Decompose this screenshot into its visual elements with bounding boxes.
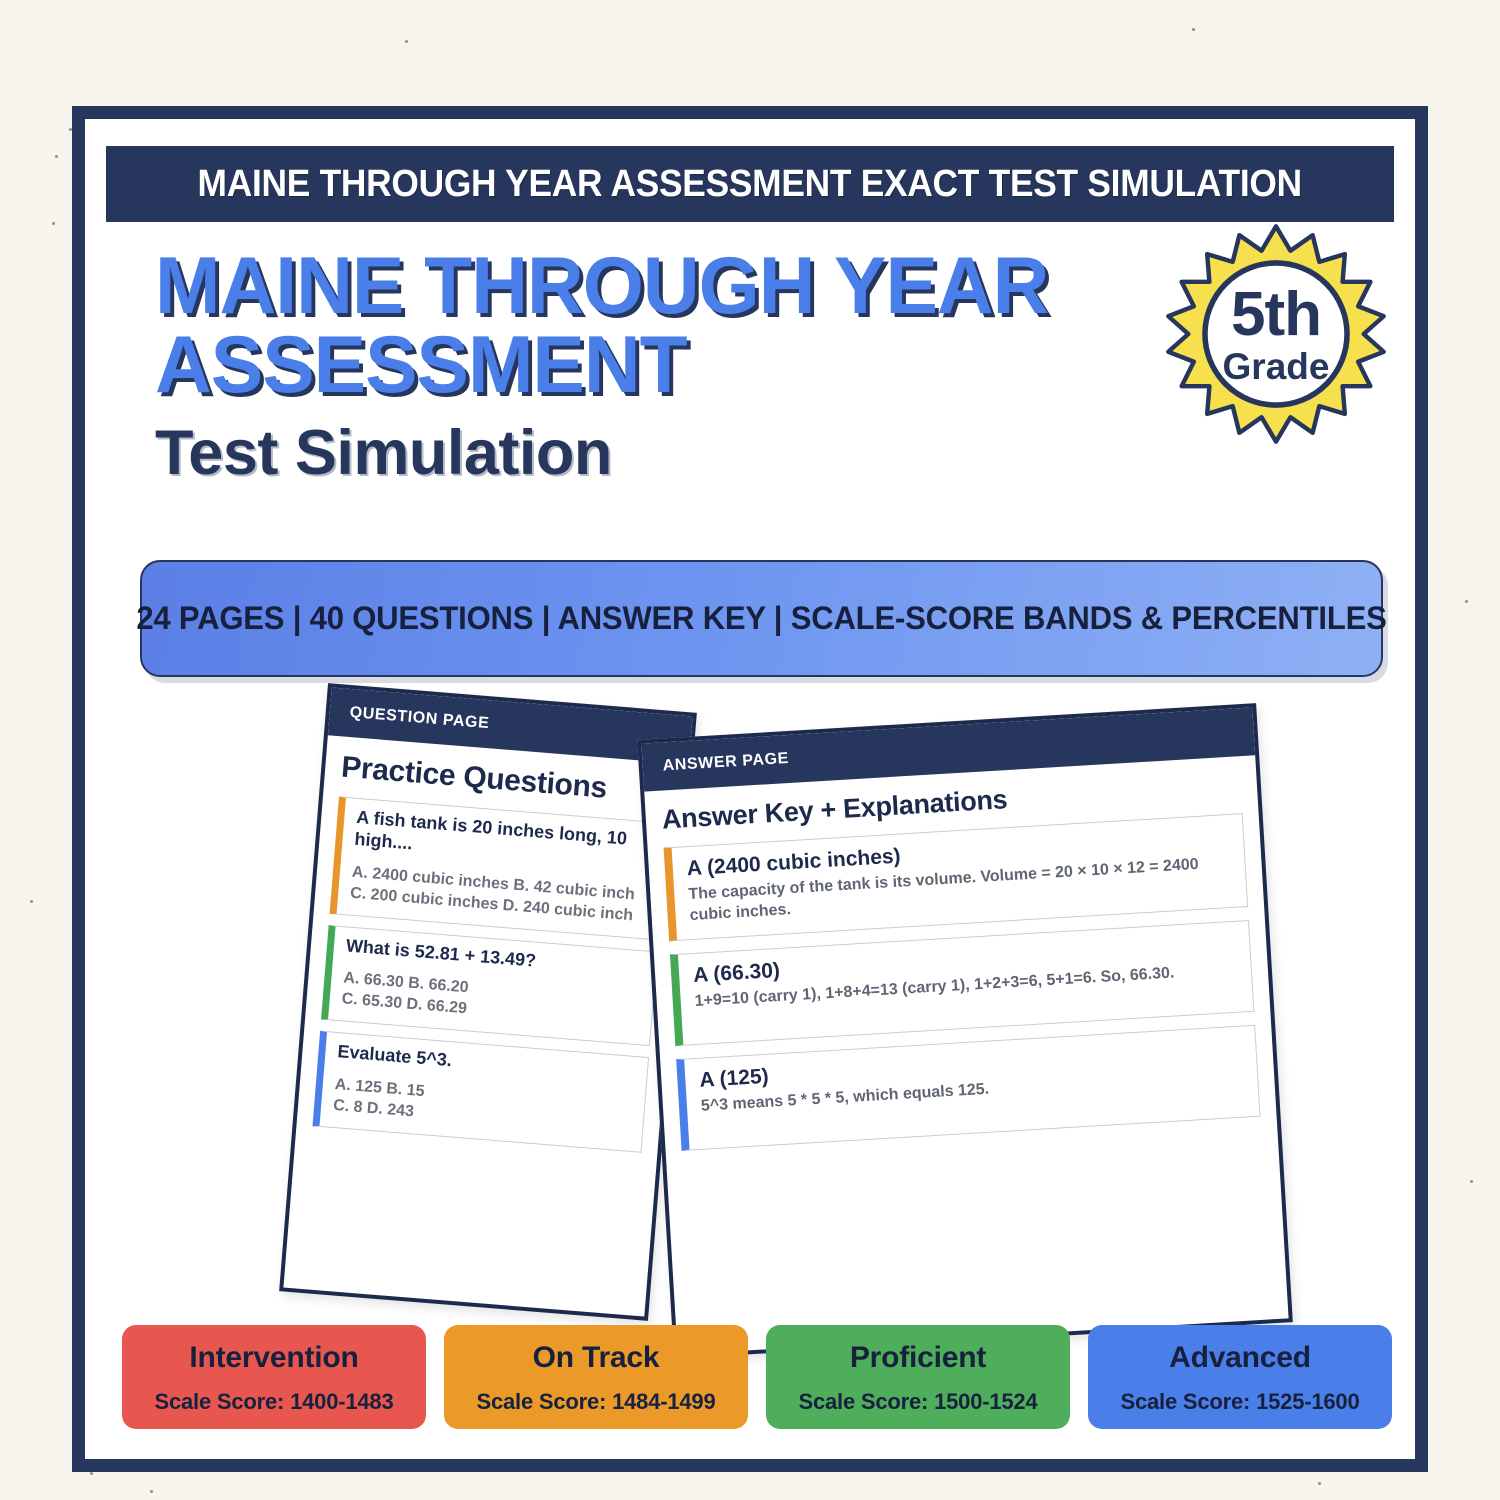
question-card: A fish tank is 20 inches long, 10 high..…: [330, 796, 668, 940]
page-title-line2: ASSESSMENT: [155, 326, 1135, 405]
speckle-dot: [52, 222, 55, 225]
answer-card: A (66.30) 1+9=10 (carry 1), 1+8+4=13 (ca…: [670, 920, 1254, 1046]
poster-inner: MAINE THROUGH YEAR ASSESSMENT EXACT TEST…: [85, 119, 1415, 1459]
question-page-body: Practice Questions A fish tank is 20 inc…: [297, 735, 689, 1153]
page-previews: QUESTION PAGE Practice Questions A fish …: [85, 679, 1415, 1369]
score-band-name: Advanced: [1094, 1341, 1386, 1375]
speckle-dot: [90, 1472, 93, 1475]
question-options: A. 66.30 B. 66.20 C. 65.30 D. 66.29: [341, 969, 643, 1035]
score-band-name: Intervention: [128, 1341, 420, 1375]
score-band-range: Scale Score: 1400-1483: [128, 1389, 420, 1415]
score-band-advanced: Advanced Scale Score: 1525-1600: [1088, 1325, 1392, 1429]
page-title-line1: MAINE THROUGH YEAR: [155, 247, 1135, 326]
answer-card: A (2400 cubic inches) The capacity of th…: [664, 813, 1249, 941]
question-card: Evaluate 5^3. A. 125 B. 15 C. 8 D. 243: [312, 1031, 649, 1153]
score-band-row: Intervention Scale Score: 1400-1483 On T…: [122, 1325, 1392, 1429]
speckle-dot: [55, 155, 58, 158]
score-band-range: Scale Score: 1500-1524: [772, 1389, 1064, 1415]
speckle-dot: [1318, 1482, 1321, 1485]
speckle-dot: [405, 40, 408, 43]
score-band-name: On Track: [450, 1341, 742, 1375]
answer-page-preview: ANSWER PAGE Answer Key + Explanations A …: [637, 703, 1293, 1359]
question-options: A. 125 B. 15 C. 8 D. 243: [332, 1075, 634, 1141]
score-band-range: Scale Score: 1484-1499: [450, 1389, 742, 1415]
eyebrow-banner: MAINE THROUGH YEAR ASSESSMENT EXACT TEST…: [106, 146, 1394, 222]
question-card: What is 52.81 + 13.49? A. 66.30 B. 66.20…: [321, 924, 658, 1046]
page-subtitle: Test Simulation: [155, 420, 1165, 486]
question-page-label: QUESTION PAGE: [349, 704, 490, 733]
question-page-preview: QUESTION PAGE Practice Questions A fish …: [279, 683, 697, 1321]
speckle-dot: [1465, 600, 1468, 603]
answer-page-label: ANSWER PAGE: [662, 750, 789, 775]
speckle-dot: [30, 900, 33, 903]
starburst-icon: [1165, 223, 1387, 445]
question-options: A. 2400 cubic inches B. 42 cubic inch C.…: [349, 863, 651, 929]
score-band-on-track: On Track Scale Score: 1484-1499: [444, 1325, 748, 1429]
score-band-name: Proficient: [772, 1341, 1064, 1375]
feature-bar: 24 PAGES | 40 QUESTIONS | ANSWER KEY | S…: [140, 560, 1383, 677]
score-band-intervention: Intervention Scale Score: 1400-1483: [122, 1325, 426, 1429]
score-band-proficient: Proficient Scale Score: 1500-1524: [766, 1325, 1070, 1429]
title-block: MAINE THROUGH YEAR ASSESSMENT Test Simul…: [155, 247, 1165, 486]
poster-frame: MAINE THROUGH YEAR ASSESSMENT EXACT TEST…: [72, 106, 1428, 1472]
speckle-dot: [150, 1490, 153, 1493]
grade-badge: 5th Grade: [1165, 223, 1387, 445]
answer-page-body: Answer Key + Explanations A (2400 cubic …: [644, 755, 1276, 1151]
answer-card: A (125) 5^3 means 5 * 5 * 5, which equal…: [676, 1024, 1260, 1150]
score-band-range: Scale Score: 1525-1600: [1094, 1389, 1386, 1415]
feature-bar-text: 24 PAGES | 40 QUESTIONS | ANSWER KEY | S…: [136, 600, 1386, 637]
speckle-dot: [1192, 28, 1195, 31]
eyebrow-text: MAINE THROUGH YEAR ASSESSMENT EXACT TEST…: [198, 163, 1302, 206]
speckle-dot: [1470, 1180, 1473, 1183]
question-stem: A fish tank is 20 inches long, 10 high..…: [354, 807, 657, 875]
